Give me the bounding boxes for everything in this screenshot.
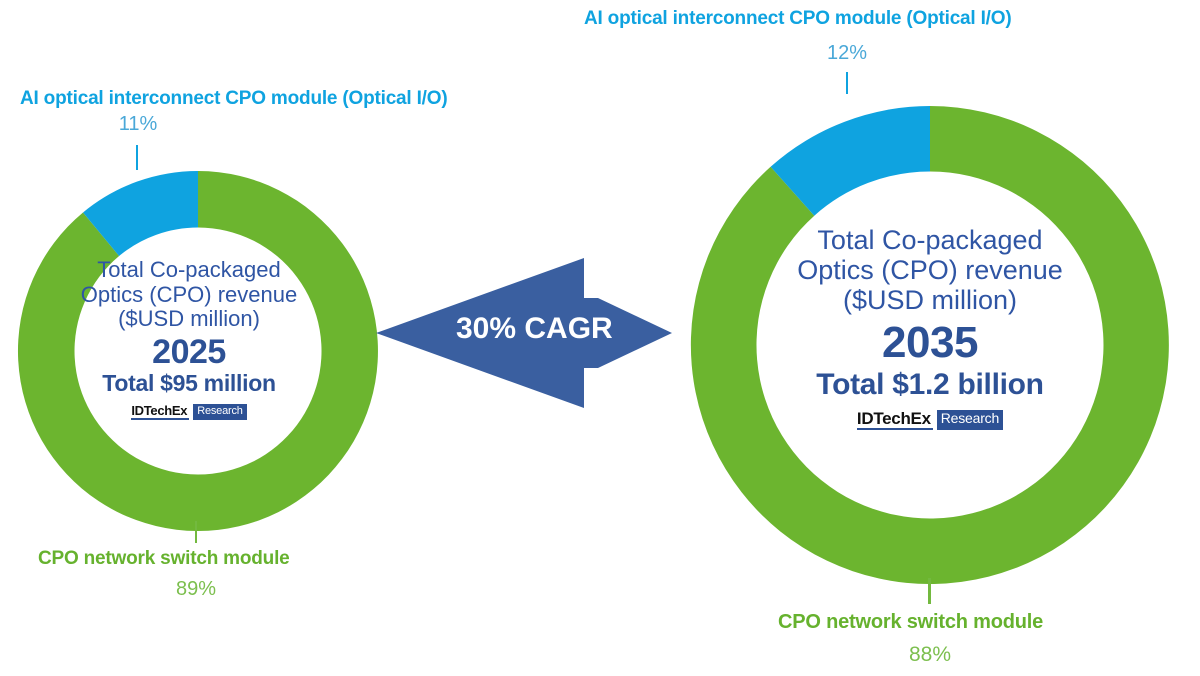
left-chart-blue-segment-percent: 11% <box>113 113 163 136</box>
left-chart-green-leader-line <box>195 521 197 543</box>
idtechex-logo-research: Research <box>937 410 1003 431</box>
left-chart-green-segment-label: CPO network switch module <box>38 548 290 570</box>
right-chart-blue-segment-percent: 12% <box>822 42 872 65</box>
right-center-line3: ($USD million) <box>775 285 1085 315</box>
right-donut-center-text: Total Co-packaged Optics (CPO) revenue (… <box>775 225 1085 430</box>
idtechex-logo-name: IDTechEx <box>131 404 189 420</box>
idtechex-logo-name: IDTechEx <box>857 410 933 431</box>
right-chart-blue-leader-line <box>846 72 848 94</box>
right-chart-blue-segment-label: AI optical interconnect CPO module (Opti… <box>584 8 1011 30</box>
left-center-line2: Optics (CPO) revenue <box>57 283 321 308</box>
left-donut-center-text: Total Co-packaged Optics (CPO) revenue (… <box>57 258 321 420</box>
right-chart-green-leader-line <box>928 578 931 604</box>
left-center-year: 2025 <box>57 333 321 371</box>
left-center-line1: Total Co-packaged <box>57 258 321 283</box>
right-chart-green-segment-percent: 88% <box>905 643 955 667</box>
right-logo-wrap: IDTechEx Research <box>775 410 1085 431</box>
idtechex-logo: IDTechEx Research <box>131 404 246 420</box>
left-center-line3: ($USD million) <box>57 307 321 332</box>
idtechex-logo-research: Research <box>193 404 246 420</box>
cagr-arrow: 30% CAGR <box>376 255 672 411</box>
cagr-arrow-label: 30% CAGR <box>456 312 613 346</box>
left-center-total: Total $95 million <box>57 371 321 397</box>
left-chart-blue-segment-label: AI optical interconnect CPO module (Opti… <box>20 88 447 110</box>
right-center-line1: Total Co-packaged <box>775 225 1085 255</box>
right-center-line2: Optics (CPO) revenue <box>775 255 1085 285</box>
infographic-canvas: AI optical interconnect CPO module (Opti… <box>0 0 1200 676</box>
right-center-year: 2035 <box>775 318 1085 367</box>
left-logo-wrap: IDTechEx Research <box>57 402 321 420</box>
right-center-total: Total $1.2 billion <box>775 368 1085 402</box>
left-chart-green-segment-percent: 89% <box>171 578 221 601</box>
idtechex-logo: IDTechEx Research <box>857 410 1003 431</box>
right-chart-green-segment-label: CPO network switch module <box>778 611 1043 634</box>
